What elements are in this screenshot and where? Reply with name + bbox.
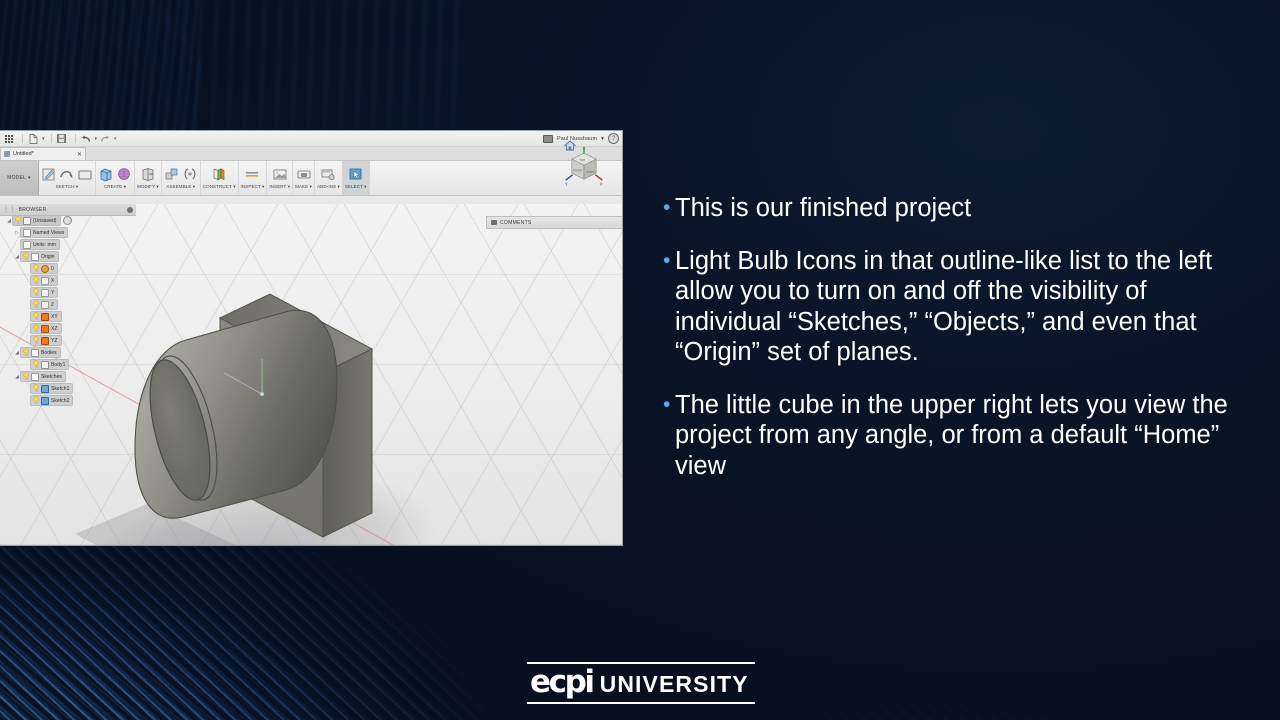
units-icon <box>23 241 31 249</box>
plane-xz-icon <box>41 325 49 333</box>
bullet-item-1: • This is our finished project <box>655 193 1255 224</box>
measure-icon[interactable] <box>244 166 260 183</box>
redo-icon[interactable] <box>99 133 111 144</box>
light-bulb-icon[interactable] <box>33 397 39 404</box>
ribbon-group-addins[interactable]: ADD-INS ▾ <box>315 161 343 195</box>
ribbon-label-modify: MODIFY <box>137 184 155 189</box>
ribbon-group-select[interactable]: SELECT ▾ <box>343 161 370 195</box>
ribbon-group-modify[interactable]: MODIFY ▾ <box>135 161 162 195</box>
addins-icon[interactable] <box>320 166 336 183</box>
tree-node-sketch1[interactable]: Sketch1 <box>0 383 130 394</box>
browser-tree[interactable]: ◢ (Unsaved) ▷ Named Views Units: mm ◢ <box>0 215 130 407</box>
chevron-down-icon: ▾ <box>156 184 158 189</box>
light-bulb-icon[interactable] <box>33 277 39 284</box>
axis-z-icon <box>41 301 49 309</box>
bullet-text: This is our finished project <box>675 193 971 224</box>
tree-node-origin-point[interactable]: 0 <box>0 263 130 274</box>
insert-image-icon[interactable] <box>272 166 288 183</box>
3d-print-icon[interactable] <box>296 166 312 183</box>
ribbon-group-sketch[interactable]: SKETCH ▾ <box>39 161 96 195</box>
document-icon <box>23 217 31 225</box>
tree-label: Body1 <box>51 362 65 368</box>
titlebar-divider-1 <box>22 134 23 143</box>
tree-node-unsaved[interactable]: ◢ (Unsaved) <box>0 215 130 226</box>
light-bulb-icon[interactable] <box>15 217 21 224</box>
tree-label: YZ <box>51 338 58 344</box>
light-bulb-icon[interactable] <box>33 337 39 344</box>
select-cursor-icon[interactable] <box>348 166 364 183</box>
folder-icon <box>31 373 39 381</box>
tree-node-bodies[interactable]: ◢ Bodies <box>0 347 130 358</box>
offset-plane-icon[interactable] <box>211 166 227 183</box>
workspace-label: MODEL <box>7 175 26 181</box>
ribbon-label-select: SELECT <box>345 184 363 189</box>
bullet-marker: • <box>655 390 675 420</box>
chevron-down-icon: ▾ <box>338 184 340 189</box>
light-bulb-icon[interactable] <box>33 385 39 392</box>
bullet-item-3: • The little cube in the upper right let… <box>655 390 1255 482</box>
extrude-box-icon[interactable] <box>98 166 114 183</box>
ribbon-label-construct: CONSTRUCT <box>203 184 232 189</box>
light-bulb-icon[interactable] <box>33 301 39 308</box>
light-bulb-icon[interactable] <box>23 373 29 380</box>
tree-label: Origin <box>41 254 55 260</box>
axis-x-icon <box>41 277 49 285</box>
chevron-down-icon: ▾ <box>364 184 366 189</box>
plane-xy-icon <box>41 313 49 321</box>
sketch-icon <box>41 397 49 405</box>
chevron-down-icon: ▾ <box>28 175 31 181</box>
chevron-down-icon: ▾ <box>310 184 312 189</box>
tree-node-named-views[interactable]: ▷ Named Views <box>0 227 130 238</box>
tree-label: (Unsaved) <box>33 218 57 224</box>
rectangle-icon[interactable] <box>77 166 93 183</box>
chevron-down-icon: ▾ <box>262 184 264 189</box>
undo-icon[interactable] <box>80 133 92 144</box>
tree-node-origin[interactable]: ◢ Origin <box>0 251 130 262</box>
tree-label: XY <box>51 314 58 320</box>
tree-node-units[interactable]: Units: mm <box>0 239 130 250</box>
bullet-marker: • <box>655 193 675 223</box>
logo-university-text: UNIVERSITY <box>600 673 749 696</box>
tree-label: 0 <box>51 266 54 272</box>
light-bulb-icon[interactable] <box>33 265 39 272</box>
chevron-down-icon: ▾ <box>233 184 235 189</box>
tree-label: Sketches <box>41 374 62 380</box>
ribbon-label-sketch: SKETCH <box>56 184 75 189</box>
ribbon-label-make: MAKE <box>295 184 308 189</box>
light-bulb-icon[interactable] <box>33 361 39 368</box>
axis-y-label: Y <box>565 181 568 186</box>
light-bulb-icon[interactable] <box>33 325 39 332</box>
browser-panel-header[interactable]: ⋮⋮ BROWSER <box>0 204 136 216</box>
slide-content-body: • This is our finished project • Light B… <box>655 193 1255 503</box>
light-bulb-icon[interactable] <box>23 253 29 260</box>
logo-wordmark: ecpi UNIVERSITY <box>527 664 755 702</box>
save-icon[interactable] <box>56 133 68 144</box>
tree-label: Sketch2 <box>51 398 69 404</box>
cube-front-label: FRONT <box>573 168 583 172</box>
titlebar-divider-3 <box>75 134 76 143</box>
tree-node-plane-yz[interactable]: YZ <box>0 335 130 346</box>
ribbon-group-insert[interactable]: INSERT ▾ <box>267 161 293 195</box>
light-bulb-icon[interactable] <box>33 313 39 320</box>
light-bulb-icon[interactable] <box>33 289 39 296</box>
folder-icon <box>31 349 39 357</box>
chevron-down-icon: ▾ <box>124 184 126 189</box>
close-icon[interactable]: ✕ <box>77 151 82 158</box>
axis-y-icon <box>41 289 49 297</box>
gear-icon[interactable] <box>127 207 133 213</box>
body-icon <box>41 361 49 369</box>
origin-point-icon <box>41 265 49 273</box>
document-tab-label: Untitled* <box>13 151 34 157</box>
folder-icon <box>31 253 39 261</box>
document-cube-icon <box>4 151 10 157</box>
tree-label: Bodies <box>41 350 57 356</box>
tree-label: Units: mm <box>33 242 56 248</box>
plane-yz-icon <box>41 337 49 345</box>
fusion360-application-window[interactable]: ▾ ▾ ▾ Paul Nussbaum ▾ ? Untitled* ✕ <box>0 131 622 545</box>
axis-y-indicator <box>566 175 573 180</box>
document-tabbar: Untitled* ✕ <box>0 147 622 161</box>
comments-label: COMMENTS <box>500 220 532 226</box>
joint-blocks-icon[interactable] <box>164 166 180 183</box>
ribbon-label-assemble: ASSEMBLE <box>166 184 191 189</box>
tree-node-axis-x[interactable]: X <box>0 275 130 286</box>
comment-icon <box>491 220 497 225</box>
document-settings-icon[interactable] <box>63 216 72 225</box>
logo-rule-bottom <box>527 702 755 704</box>
help-icon[interactable]: ? <box>608 133 619 144</box>
tree-node-axis-z[interactable]: Z <box>0 299 130 310</box>
ribbon-label-insert: INSERT <box>269 184 286 189</box>
tree-node-plane-xz[interactable]: XZ <box>0 323 130 334</box>
ribbon-group-create[interactable]: CREATE ▾ <box>96 161 135 195</box>
tree-node-sketches[interactable]: ◢ Sketches <box>0 371 130 382</box>
spline-icon[interactable] <box>59 166 75 183</box>
titlebar-divider-2 <box>51 134 52 143</box>
grip-icon[interactable]: ⋮⋮ <box>3 206 16 213</box>
bullet-text: Light Bulb Icons in that outline-like li… <box>675 246 1255 368</box>
ribbon-toolbar: MODEL ▾ SKETCH ▾ <box>0 161 622 196</box>
view-cube-widget[interactable]: Y X TOP FRONT RIGHT <box>556 134 608 190</box>
tree-node-sketch2[interactable]: Sketch2 <box>0 395 130 406</box>
comments-panel-header[interactable]: COMMENTS <box>486 216 622 229</box>
view-cube[interactable]: Y X TOP FRONT RIGHT <box>564 146 604 188</box>
logo-brand-text: ecpi <box>530 667 593 698</box>
tree-node-plane-xy[interactable]: XY <box>0 311 130 322</box>
bullet-marker: • <box>655 246 675 276</box>
ribbon-label-create: CREATE <box>104 184 123 189</box>
tree-label: Sketch1 <box>51 386 69 392</box>
ecpi-university-logo: ecpi UNIVERSITY <box>527 662 755 704</box>
chat-icon[interactable] <box>543 135 553 143</box>
ribbon-group-assemble[interactable]: ASSEMBLE ▾ <box>162 161 201 195</box>
ribbon-group-inspect[interactable]: INSPECT ▾ <box>239 161 268 195</box>
new-document-icon[interactable] <box>27 133 39 144</box>
workspace-switcher-button[interactable]: MODEL ▾ <box>0 161 39 195</box>
tree-label: Named Views <box>33 230 64 236</box>
application-titlebar: ▾ ▾ ▾ Paul Nussbaum ▾ ? <box>0 131 622 147</box>
browser-header-label: BROWSER <box>19 207 47 213</box>
tree-label: Y <box>51 290 54 296</box>
sketch-pencil-icon[interactable] <box>41 166 57 183</box>
bullet-item-2: • Light Bulb Icons in that outline-like … <box>655 246 1255 368</box>
press-pull-icon[interactable] <box>140 166 156 183</box>
light-bulb-icon[interactable] <box>23 349 29 356</box>
bullet-text: The little cube in the upper right lets … <box>675 390 1255 482</box>
sketch-icon <box>41 385 49 393</box>
tree-node-axis-y[interactable]: Y <box>0 287 130 298</box>
ribbon-group-construct[interactable]: CONSTRUCT ▾ <box>201 161 239 195</box>
app-grid-icon[interactable] <box>3 133 15 144</box>
axis-x-indicator <box>595 175 602 180</box>
motion-link-icon[interactable] <box>182 166 198 183</box>
ribbon-label-inspect: INSPECT <box>241 184 261 189</box>
axis-x-label: X <box>600 181 603 186</box>
tree-label: X <box>51 278 54 284</box>
chevron-down-icon: ▾ <box>288 184 290 189</box>
tree-label: XZ <box>51 326 58 332</box>
sphere-mesh-icon[interactable] <box>116 166 132 183</box>
ribbon-group-make[interactable]: MAKE ▾ <box>293 161 315 195</box>
document-tab-untitled[interactable]: Untitled* ✕ <box>0 147 86 160</box>
folder-icon <box>23 229 31 237</box>
ribbon-label-addins: ADD-INS <box>317 184 336 189</box>
chevron-down-icon: ▾ <box>193 184 195 189</box>
cube-top-label: TOP <box>579 158 585 162</box>
cube-right-label: RIGHT <box>586 170 595 174</box>
tree-label: Z <box>51 302 54 308</box>
tree-node-body1[interactable]: Body1 <box>0 359 130 370</box>
chevron-down-icon: ▾ <box>76 184 78 189</box>
